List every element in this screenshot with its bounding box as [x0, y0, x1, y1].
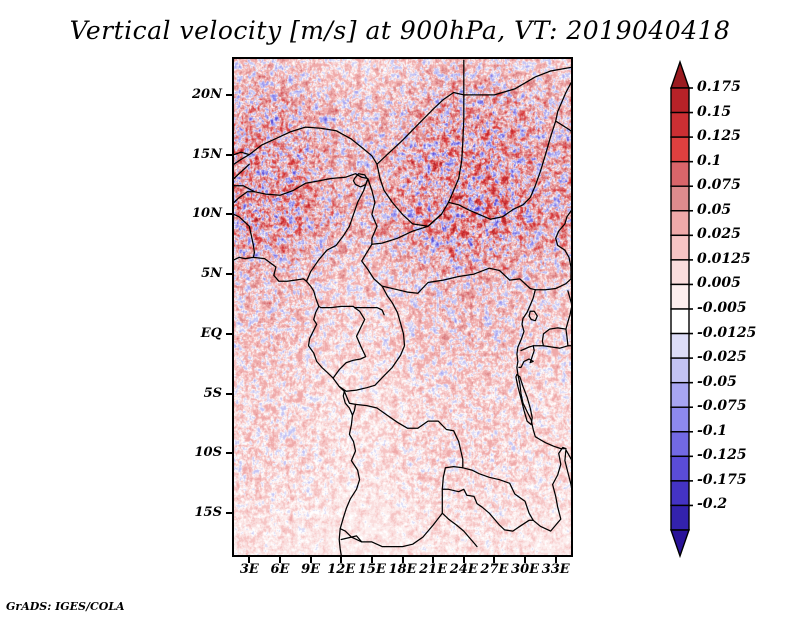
x-tick-mark: [340, 557, 342, 563]
colorbar-tick-label: 0.025: [697, 226, 741, 242]
x-tick-mark: [279, 557, 281, 563]
y-tick-mark: [226, 94, 232, 96]
x-tick-mark: [402, 557, 404, 563]
y-tick-label-10s: 10S: [176, 445, 222, 460]
colorbar-tick-label: 0.05: [697, 202, 731, 218]
colorbar-tick-label: 0.1: [697, 153, 721, 169]
colorbar-tick-label: -0.075: [697, 398, 747, 414]
colorbar-tick-label: -0.1: [697, 423, 727, 439]
colorbar-tick-label: 0.075: [697, 177, 741, 193]
colorbar-tick-label: -0.005: [697, 300, 747, 316]
y-tick-label-15n: 15N: [176, 147, 222, 162]
y-tick-label-5s: 5S: [176, 386, 222, 401]
y-tick-mark: [226, 393, 232, 395]
y-tick-label-5n: 5N: [176, 266, 222, 281]
colorbar-tick-label: 0.175: [697, 79, 741, 95]
colorbar-tick-label: 0.005: [697, 275, 741, 291]
x-tick-mark: [555, 557, 557, 563]
x-tick-mark: [310, 557, 312, 563]
x-tick-mark: [371, 557, 373, 563]
colorbar-bands: [663, 58, 693, 560]
colorbar-tick-label: -0.05: [697, 374, 737, 390]
colorbar-tick-label: -0.025: [697, 349, 747, 365]
colorbar-tick-label: -0.0125: [697, 325, 756, 341]
footer-credit: GrADS: IGES/COLA: [6, 600, 125, 613]
x-tick-mark: [524, 557, 526, 563]
colorbar-tick-label: 0.15: [697, 104, 731, 120]
colorbar-tick-label: 0.125: [697, 128, 741, 144]
colorbar[interactable]: 0.1750.150.1250.10.0750.050.0250.01250.0…: [663, 58, 800, 560]
y-tick-mark: [226, 213, 232, 215]
colorbar-tick-label: 0.0125: [697, 251, 751, 267]
x-tick-mark: [463, 557, 465, 563]
y-tick-label-15s: 15S: [176, 505, 222, 520]
x-tick-mark: [248, 557, 250, 563]
colorbar-tick-label: -0.2: [697, 496, 727, 512]
y-tick-label-10n: 10N: [176, 206, 222, 221]
page-title: Vertical velocity [m/s] at 900hPa, VT: 2…: [0, 16, 800, 45]
y-tick-mark: [226, 154, 232, 156]
y-tick-label-eq: EQ: [176, 326, 222, 341]
y-tick-mark: [226, 333, 232, 335]
x-tick-mark: [432, 557, 434, 563]
x-tick-mark: [493, 557, 495, 563]
map-plot-area[interactable]: [232, 57, 573, 557]
country-borders-overlay: [234, 59, 571, 555]
y-tick-mark: [226, 273, 232, 275]
colorbar-tick-label: -0.175: [697, 472, 747, 488]
y-tick-label-20n: 20N: [176, 87, 222, 102]
colorbar-tick-label: -0.125: [697, 447, 747, 463]
y-tick-mark: [226, 452, 232, 454]
x-tick-label-33e: 33E: [536, 562, 576, 577]
y-tick-mark: [226, 512, 232, 514]
